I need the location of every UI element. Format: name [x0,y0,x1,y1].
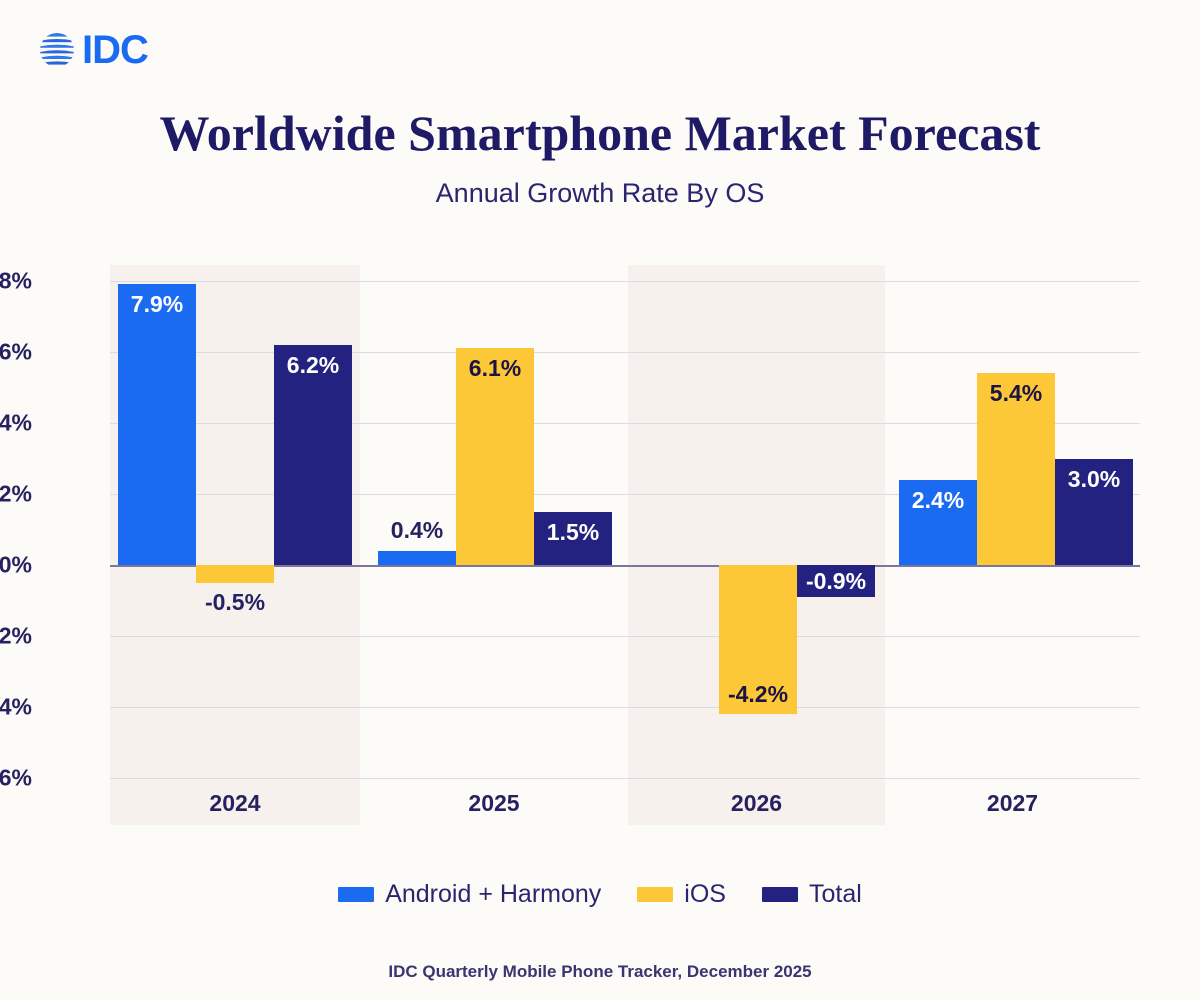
y-tick-4: 4% [0,410,32,437]
bar-label-2024-ios: -0.5% [205,589,265,616]
globe-icon [38,31,76,69]
bar-label-2025-ios: 6.1% [469,355,521,382]
legend-label-total: Total [809,880,862,909]
legend-label-ios: iOS [684,880,726,909]
bar-label-2024-total: 6.2% [287,352,339,379]
y-tick-neg4: -4% [0,694,32,721]
idc-logo: IDC [38,30,148,70]
source-note: IDC Quarterly Mobile Phone Tracker, Dece… [0,962,1200,982]
bar-2025-ios[interactable]: 6.1% [456,348,534,565]
bar-2024-ios[interactable]: -0.5% [196,565,274,583]
bar-label-2024-android: 7.9% [131,291,183,318]
idc-wordmark: IDC [82,30,148,70]
bar-2024-total[interactable]: 6.2% [274,345,352,565]
bar-2026-total[interactable]: -0.9% [797,565,875,597]
legend-swatch-total [762,887,798,902]
bar-label-2025-total: 1.5% [547,519,599,546]
bar-label-2027-ios: 5.4% [990,380,1042,407]
legend-item-android[interactable]: Android + Harmony [338,880,601,909]
bar-label-2027-android: 2.4% [912,487,964,514]
y-tick-neg6: -6% [0,765,32,792]
y-tick-0: 0% [0,552,32,579]
bar-group-2024: 7.9% -0.5% 6.2% 2024 [110,265,360,825]
bar-label-2025-android: 0.4% [391,517,443,544]
bar-2027-android[interactable]: 2.4% [899,480,977,565]
chart-legend: Android + Harmony iOS Total [0,880,1200,909]
y-tick-8: 8% [0,268,32,295]
bar-2025-android[interactable]: 0.4% [378,551,456,565]
bar-2025-total[interactable]: 1.5% [534,512,612,565]
x-tick-2027: 2027 [885,790,1140,817]
legend-swatch-ios [637,887,673,902]
y-tick-2: 2% [0,481,32,508]
x-tick-2024: 2024 [110,790,360,817]
bar-2027-ios[interactable]: 5.4% [977,373,1055,565]
bar-label-2027-total: 3.0% [1068,466,1120,493]
bar-label-2026-ios: -4.2% [728,681,788,708]
bar-2026-ios[interactable]: -4.2% [719,565,797,714]
page-subtitle: Annual Growth Rate By OS [0,178,1200,209]
bar-2027-total[interactable]: 3.0% [1055,459,1133,565]
bar-label-2026-total: -0.9% [806,568,866,595]
y-tick-neg2: -2% [0,623,32,650]
x-tick-2026: 2026 [628,790,885,817]
chart-plot-area: 8% 6% 4% 2% 0% -2% -4% -6% 7.9% -0.5% 6.… [110,265,1140,825]
legend-swatch-android [338,887,374,902]
bar-group-2025: 0.4% 6.1% 1.5% 2025 [360,265,628,825]
bar-group-2026: -4.2% -0.9% 2026 [628,265,885,825]
y-tick-6: 6% [0,339,32,366]
bar-2024-android[interactable]: 7.9% [118,284,196,565]
x-tick-2025: 2025 [360,790,628,817]
legend-item-ios[interactable]: iOS [637,880,726,909]
legend-item-total[interactable]: Total [762,880,862,909]
page-title: Worldwide Smartphone Market Forecast [0,104,1200,162]
legend-label-android: Android + Harmony [385,880,601,909]
bar-group-2027: 2.4% 5.4% 3.0% 2027 [885,265,1140,825]
